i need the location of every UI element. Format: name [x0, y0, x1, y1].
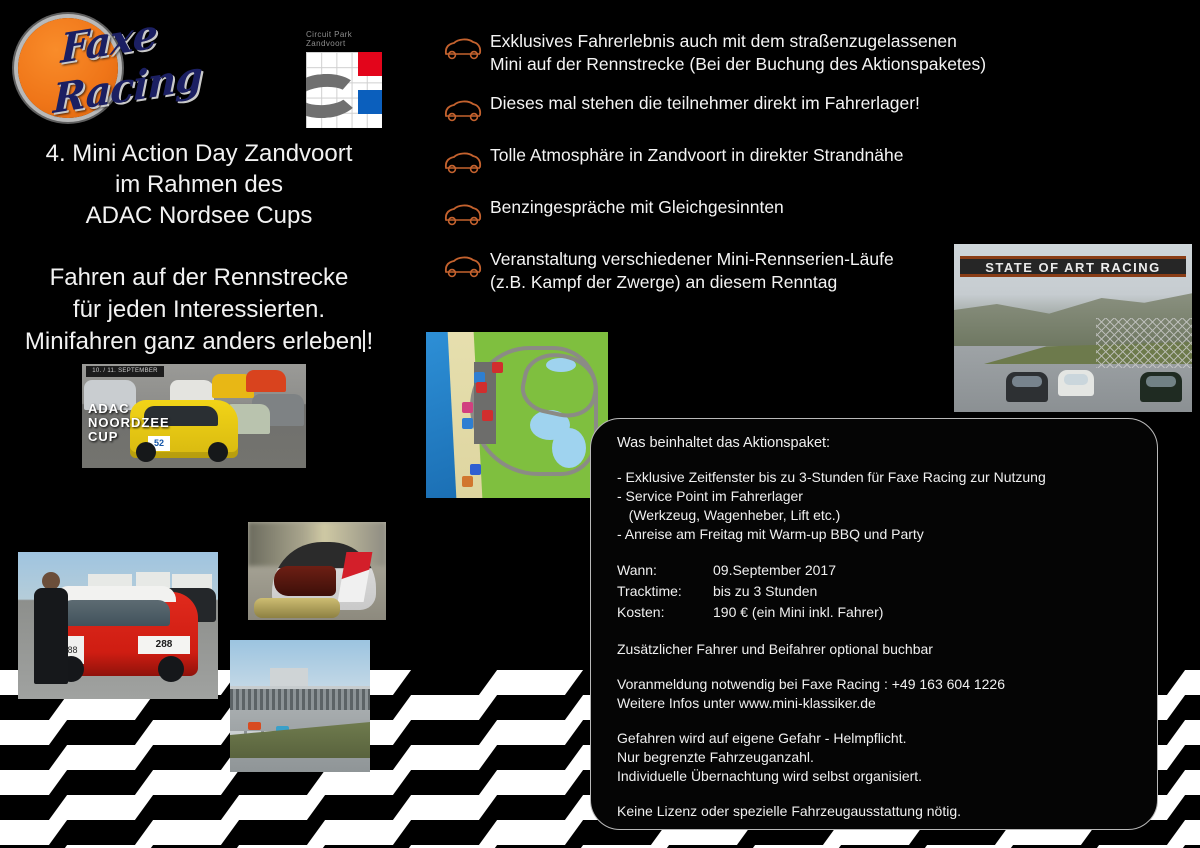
contact-phone-line: Voranmeldung notwendig bei Faxe Racing :… — [617, 675, 1131, 694]
terms-line-2: Nur begrenzte Fahrzeuganzahl. — [617, 748, 1131, 767]
bullet-text-line-2: (z.B. Kampf der Zwerge) an diesem Rennta… — [490, 272, 837, 292]
table-row: Kosten: 190 € (ein Mini inkl. Fahrer) — [617, 603, 883, 624]
cpz-line2: Zandvoort — [302, 39, 384, 48]
bullet-text: Dieses mal stehen die teilnehmer direkt … — [484, 92, 920, 115]
photo-banner-text: 10. / 11. SEPTEMBER — [86, 366, 164, 377]
map-pin[interactable] — [462, 402, 473, 413]
terms-line-1: Gefahren wird auf eigene Gefahr - Helmpf… — [617, 729, 1131, 748]
bullet-text-line-1: Exklusives Fahrerlebnis auch mit dem str… — [490, 31, 957, 51]
map-pin[interactable] — [462, 476, 473, 487]
table-row: Wann: 09.September 2017 — [617, 561, 883, 582]
bullet-text-line-1: Veranstaltung verschiedener Mini-Rennser… — [490, 249, 894, 269]
bullet-text: Exklusives Fahrerlebnis auch mit dem str… — [484, 30, 986, 76]
map-pin[interactable] — [492, 362, 503, 373]
panel-include-item: - Exklusive Zeitfenster bis zu 3-Stunden… — [617, 468, 1131, 487]
panel-terms: Gefahren wird auf eigene Gefahr - Helmpf… — [617, 729, 1131, 786]
panel-contact: Voranmeldung notwendig bei Faxe Racing :… — [617, 675, 1131, 713]
panel-include-item: - Service Point im Fahrerlager — [617, 487, 1131, 506]
subline-line-2: für jeden Interessierten. — [4, 294, 394, 326]
panel-details-table: Wann: 09.September 2017 Tracktime: bis z… — [617, 561, 883, 624]
detail-value: 190 € (ein Mini inkl. Fahrer) — [713, 603, 883, 624]
circuit-park-zandvoort-logo: Circuit Park Zandvoort — [302, 30, 384, 130]
event-subheadline: Fahren auf der Rennstrecke für jeden Int… — [4, 262, 394, 358]
panel-footer-note: Keine Lizenz oder spezielle Fahrzeugauss… — [617, 802, 1131, 821]
gantry-text-b: RACING — [1101, 260, 1161, 275]
subline-line-3: Minifahren ganz anders erleben! — [4, 326, 394, 358]
photo-adac-noordzee-cup: 10. / 11. SEPTEMBER 52 ADAC NOORDZEE CUP — [82, 364, 306, 468]
bullet-item: Veranstaltung verschiedener Mini-Rennser… — [440, 248, 1060, 294]
map-pin[interactable] — [470, 464, 481, 475]
mini-car-icon — [440, 97, 484, 123]
poster-canvas: Faxe Racing Circuit Park Zandvoort 4. Mi… — [0, 0, 1200, 848]
table-row: Tracktime: bis zu 3 Stunden — [617, 582, 883, 603]
event-headline: 4. Mini Action Day Zandvoort im Rahmen d… — [10, 138, 388, 231]
detail-value: bis zu 3 Stunden — [713, 582, 883, 603]
feature-bullet-list: Exklusives Fahrerlebnis auch mit dem str… — [440, 30, 1060, 310]
bullet-text: Benzingespräche mit Gleichgesinnten — [484, 196, 784, 219]
cpz-line1: Circuit Park — [302, 30, 384, 39]
subline-line-1: Fahren auf der Rennstrecke — [4, 262, 394, 294]
bullet-item: Benzingespräche mit Gleichgesinnten — [440, 196, 1060, 227]
photo-driver-with-red-mini: 288 288 — [18, 552, 218, 699]
panel-include-item: - Anreise am Freitag mit Warm-up BBQ und… — [617, 525, 1131, 544]
detail-value: 09.September 2017 — [713, 561, 883, 582]
bullet-text-line-2: Mini auf der Rennstrecke (Bei der Buchun… — [490, 54, 986, 74]
panel-includes-list: - Exklusive Zeitfenster bis zu 3-Stunden… — [617, 468, 1131, 544]
photo-circuit-map — [426, 332, 608, 498]
panel-include-item: (Werkzeug, Wagenheber, Lift etc.) — [617, 506, 1131, 525]
map-pin[interactable] — [476, 382, 487, 393]
bullet-item: Tolle Atmosphäre in Zandvoort in direkte… — [440, 144, 1060, 175]
bullet-item: Dieses mal stehen die teilnehmer direkt … — [440, 92, 1060, 123]
photo-grandstand-track — [230, 640, 370, 772]
detail-key: Wann: — [617, 561, 713, 582]
terms-line-3: Individuelle Übernachtung wird selbst or… — [617, 767, 1131, 786]
detail-key: Kosten: — [617, 603, 713, 624]
headline-line-1: 4. Mini Action Day Zandvoort — [10, 138, 388, 169]
faxe-racing-logo: Faxe Racing — [14, 12, 204, 122]
headline-line-2: im Rahmen des — [10, 169, 388, 200]
action-package-info-panel: Was beinhaltet das Aktionspaket: - Exklu… — [590, 418, 1158, 830]
subline-line-3-bang: ! — [366, 328, 373, 355]
photo-caption: ADAC NOORDZEE CUP — [88, 402, 170, 444]
detail-key: Tracktime: — [617, 582, 713, 603]
bullet-text: Tolle Atmosphäre in Zandvoort in direkte… — [484, 144, 903, 167]
mini-car-icon — [440, 149, 484, 175]
mini-car-icon — [440, 253, 484, 279]
photo-racing-helmet — [248, 522, 386, 620]
headline-line-3: ADAC Nordsee Cups — [10, 200, 388, 231]
mini-car-icon — [440, 35, 484, 61]
bullet-text: Veranstaltung verschiedener Mini-Rennser… — [484, 248, 894, 294]
bullet-item: Exklusives Fahrerlebnis auch mit dem str… — [440, 30, 1060, 76]
subline-line-3-text: Minifahren ganz anders erleben — [25, 328, 363, 355]
cpz-emblem-icon — [306, 52, 382, 128]
contact-website-line[interactable]: Weitere Infos unter www.mini-klassiker.d… — [617, 694, 1131, 713]
number-plate: 288 — [138, 636, 190, 654]
panel-optional-note: Zusätzlicher Fahrer und Beifahrer option… — [617, 640, 1131, 659]
panel-title: Was beinhaltet das Aktionspaket: — [617, 435, 1131, 451]
map-pin[interactable] — [482, 410, 493, 421]
map-pin[interactable] — [462, 418, 473, 429]
mini-car-icon — [440, 201, 484, 227]
